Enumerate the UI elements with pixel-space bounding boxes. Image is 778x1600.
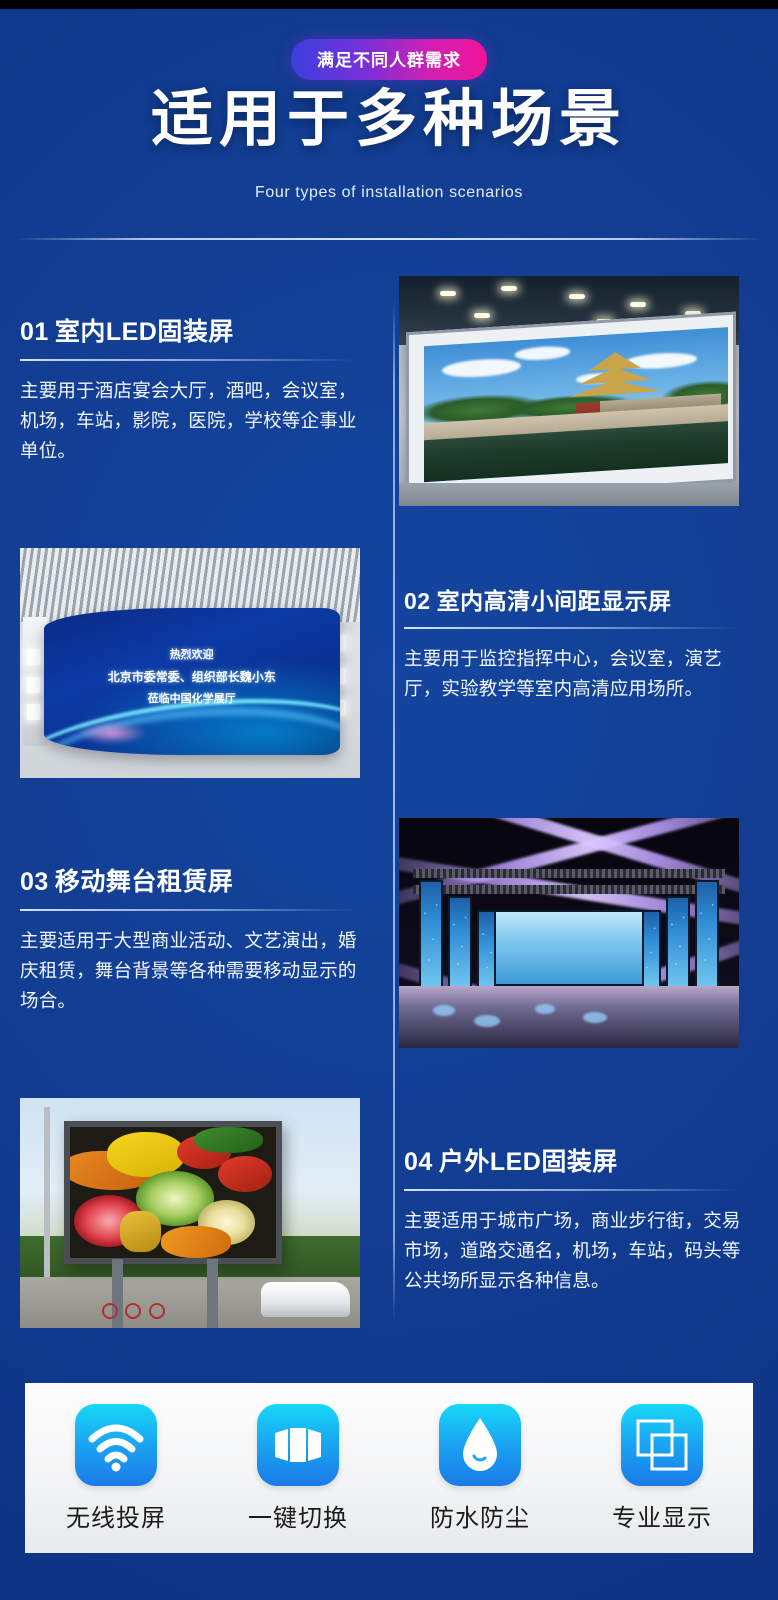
feature-item-waterproof-dustproof[interactable]: 防水防尘: [400, 1404, 560, 1533]
top-black-bar: [0, 0, 778, 9]
stage-main-screen: [494, 910, 644, 986]
page-title: 适用于多种场景: [0, 87, 778, 152]
section-04-image: [20, 1098, 360, 1328]
feature-item-professional-display[interactable]: 专业显示: [582, 1404, 742, 1533]
section-02-image: 热烈欢迎 北京市委常委、组织部长魏小东 莅临中国化学展厅: [20, 548, 360, 778]
section-02-rule: [404, 627, 739, 629]
poster-page: 满足不同人群需求 适用于多种场景 Four types of installat…: [0, 0, 778, 1600]
wifi-icon: [75, 1404, 157, 1486]
section-03-image: [399, 818, 739, 1048]
vertical-divider: [393, 300, 395, 1320]
section-02-title: 02室内高清小间距显示屏: [404, 582, 754, 616]
feature-label: 专业显示: [612, 1498, 712, 1533]
section-04-title: 04户外LED固装屏: [404, 1142, 754, 1178]
outdoor-billboard: [64, 1121, 282, 1264]
feature-item-wireless-cast[interactable]: 无线投屏: [36, 1404, 196, 1533]
header-divider: [14, 238, 764, 240]
section-01-rule: [20, 359, 355, 361]
car: [261, 1282, 349, 1317]
wall-text-line1: 热烈欢迎: [44, 646, 340, 662]
led-screen-content: [424, 327, 727, 482]
section-02-description: 主要用于监控指挥中心，会议室，演艺厅，实验教学等室内高清应用场所。: [404, 644, 754, 704]
vegetable-image: [70, 1127, 276, 1258]
overlapping-squares-icon: [621, 1404, 703, 1486]
section-01-description: 主要用于酒店宴会大厅，酒吧，会议室，机场，车站，影院，医院，学校等企事业单位。: [20, 376, 370, 466]
page-subtitle: Four types of installation scenarios: [0, 184, 778, 202]
feature-item-one-key-switch[interactable]: 一键切换: [218, 1404, 378, 1533]
feature-label: 防水防尘: [430, 1498, 530, 1533]
feature-label: 无线投屏: [66, 1498, 166, 1533]
section-04-number: 04: [404, 1148, 433, 1176]
section-03-number: 03: [20, 868, 49, 896]
section-02-title-text: 室内高清小间距显示屏: [437, 588, 672, 614]
section-03-description: 主要适用于大型商业活动、文艺演出，婚庆租赁，舞台背景等各种需要移动显示的场合。: [20, 926, 370, 1016]
section-03-text: 03移动舞台租赁屏 主要适用于大型商业活动、文艺演出，婚庆租赁，舞台背景等各种需…: [20, 862, 370, 1016]
section-04-title-text: 户外LED固装屏: [439, 1148, 618, 1176]
section-04-description: 主要适用于城市广场，商业步行街，交易市场，道路交通名，机场，车站，码头等公共场所…: [404, 1206, 754, 1296]
section-02-text: 02室内高清小间距显示屏 主要用于监控指挥中心，会议室，演艺厅，实验教学等室内高…: [404, 582, 754, 704]
wall-text-line3: 莅临中国化学展厅: [44, 690, 340, 706]
section-01-title-text: 室内LED固装屏: [55, 318, 234, 346]
section-01-image: [399, 276, 739, 506]
section-01-number: 01: [20, 318, 49, 346]
section-02-number: 02: [404, 588, 431, 614]
waterdrop-icon: [439, 1404, 521, 1486]
wall-text-line2: 北京市委常委、组织部长魏小东: [44, 668, 340, 685]
header-badge: 满足不同人群需求: [291, 39, 487, 80]
panels-switch-icon: [257, 1404, 339, 1486]
section-04-text: 04户外LED固装屏 主要适用于城市广场，商业步行街，交易市场，道路交通名，机场…: [404, 1142, 754, 1296]
section-03-title-text: 移动舞台租赁屏: [55, 868, 234, 896]
section-03-rule: [20, 909, 355, 911]
curved-led-wall: 热烈欢迎 北京市委常委、组织部长魏小东 莅临中国化学展厅: [44, 608, 340, 755]
section-03-title: 03移动舞台租赁屏: [20, 862, 370, 898]
features-panel: 无线投屏 一键切换 防水防尘: [25, 1383, 753, 1553]
feature-label: 一键切换: [248, 1498, 348, 1533]
header: 满足不同人群需求 适用于多种场景 Four types of installat…: [0, 9, 778, 241]
section-01-title: 01室内LED固装屏: [20, 312, 370, 348]
section-04-rule: [404, 1189, 739, 1191]
section-01-text: 01室内LED固装屏 主要用于酒店宴会大厅，酒吧，会议室，机场，车站，影院，医院…: [20, 312, 370, 466]
